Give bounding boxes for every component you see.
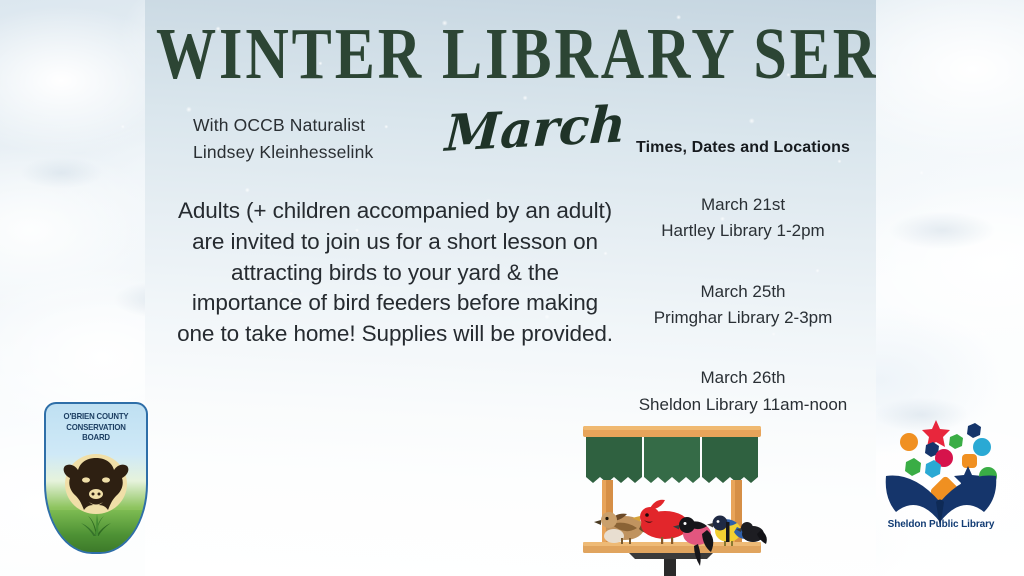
bird-feeder-icon — [577, 424, 767, 576]
presenter-credit: With OCCB Naturalist Lindsey Kleinhessel… — [193, 112, 463, 165]
schedule-item: March 26th Sheldon Library 11am-noon — [610, 365, 876, 418]
heptagon-shape — [967, 423, 981, 438]
circle-orange — [900, 433, 918, 451]
hexagon-green-2 — [905, 458, 921, 476]
open-book-icon — [876, 414, 1006, 536]
poster-canvas: WINTER LIBRARY SERIES With OCCB Naturali… — [0, 0, 1024, 576]
sheldon-public-library-logo: Sheldon Public Library — [876, 414, 1006, 536]
bird-feeder-illustration — [577, 424, 767, 576]
schedule-item: March 25th Primghar Library 2-3pm — [610, 279, 876, 332]
flyer-panel: WINTER LIBRARY SERIES With OCCB Naturali… — [145, 0, 876, 576]
month-label: March — [444, 99, 626, 159]
presenter-line-2: Lindsey Kleinhesselink — [193, 139, 463, 166]
presenter-line-1: With OCCB Naturalist — [193, 112, 463, 139]
occb-shield-shape: O'BRIEN COUNTY CONSERVATION BOARD — [44, 402, 148, 554]
hexagon-green — [949, 434, 963, 449]
occb-text-line-1: O'BRIEN COUNTY — [53, 411, 139, 422]
schedule-item-date: March 25th — [610, 279, 876, 305]
schedule-heading: Times, Dates and Locations — [610, 139, 876, 157]
occb-logo-text: O'BRIEN COUNTY CONSERVATION BOARD — [53, 411, 139, 443]
page-title: WINTER LIBRARY SERIES — [156, 18, 865, 91]
schedule-item-location: Sheldon Library 11am-noon — [610, 392, 876, 418]
schedule-item-date: March 21st — [610, 192, 876, 218]
sheldon-logo-caption: Sheldon Public Library — [876, 519, 1006, 530]
schedule-list: March 21st Hartley Library 1-2pm March 2… — [610, 192, 876, 418]
rounded-square-orange — [962, 454, 977, 468]
occb-logo: O'BRIEN COUNTY CONSERVATION BOARD — [44, 402, 148, 554]
body-paragraph: Adults (+ children accompanied by an adu… — [175, 196, 615, 350]
bison-head-icon — [59, 450, 133, 514]
schedule-item-date: March 26th — [610, 365, 876, 391]
occb-text-line-2: CONSERVATION BOARD — [53, 422, 139, 443]
schedule-item-location: Primghar Library 2-3pm — [610, 305, 876, 331]
schedule-item: March 21st Hartley Library 1-2pm — [610, 192, 876, 245]
star-shape — [922, 420, 950, 447]
schedule-item-location: Hartley Library 1-2pm — [610, 218, 876, 244]
circle-cyan — [973, 438, 991, 456]
grass-tuft-icon — [79, 510, 113, 536]
